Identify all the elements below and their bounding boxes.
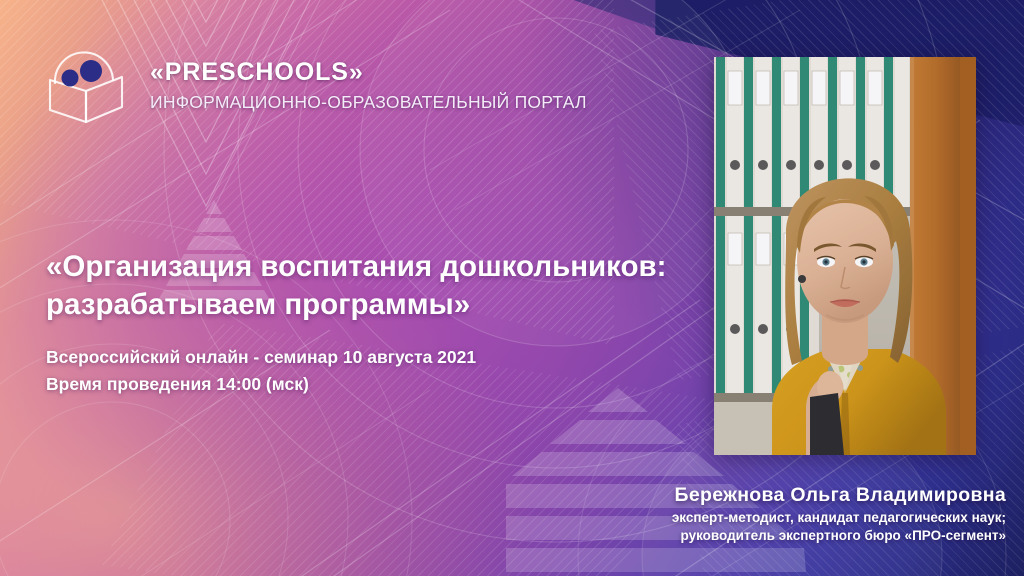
brand-text-block: «PRESCHOOLS» ИНФОРМАЦИОННО-ОБРАЗОВАТЕЛЬН…: [150, 60, 587, 112]
event-title-line-1: «Организация воспитания дошкольников:: [46, 250, 667, 283]
event-meta-line-1: Всероссийский онлайн - семинар 10 август…: [46, 344, 706, 371]
speaker-role-line-2: руководитель экспертного бюро «ПРО-сегме…: [546, 527, 1006, 545]
event-meta: Всероссийский онлайн - семинар 10 август…: [46, 344, 706, 398]
open-book-with-two-readers-icon: [46, 46, 128, 126]
event-title-line-2: разрабатываем программы»: [46, 288, 470, 321]
speaker-photo-image: [714, 57, 976, 455]
speaker-role: эксперт-методист, кандидат педагогически…: [546, 509, 1006, 545]
brand-header: «PRESCHOOLS» ИНФОРМАЦИОННО-ОБРАЗОВАТЕЛЬН…: [46, 46, 587, 126]
event-title-block: «Организация воспитания дошкольников: ра…: [46, 248, 706, 398]
event-meta-line-2: Время проведения 14:00 (мск): [46, 371, 706, 398]
brand-subtitle: ИНФОРМАЦИОННО-ОБРАЗОВАТЕЛЬНЫЙ ПОРТАЛ: [150, 94, 587, 112]
event-title: «Организация воспитания дошкольников: ра…: [46, 248, 706, 324]
speaker-credit: Бережнова Ольга Владимировна эксперт-мет…: [546, 484, 1006, 545]
webinar-banner: «PRESCHOOLS» ИНФОРМАЦИОННО-ОБРАЗОВАТЕЛЬН…: [0, 0, 1024, 576]
speaker-photo: [714, 57, 976, 455]
speaker-role-line-1: эксперт-методист, кандидат педагогически…: [546, 509, 1006, 527]
brand-name: «PRESCHOOLS»: [150, 60, 587, 85]
speaker-name: Бережнова Ольга Владимировна: [546, 484, 1006, 507]
